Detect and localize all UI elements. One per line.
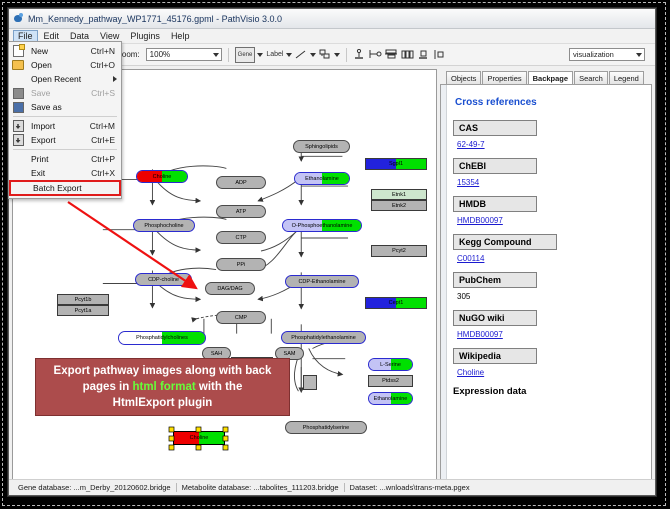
xref-db-cas: CAS <box>453 120 537 136</box>
xref-value-kegg[interactable]: C00114 <box>457 254 641 263</box>
interaction-icon[interactable] <box>369 48 382 62</box>
submenu-arrow-icon <box>113 76 117 82</box>
node-label: Pcyt2 <box>392 248 406 254</box>
annotation-line2-pre: pages in <box>83 381 133 393</box>
menu-item-open-recent[interactable]: Open Recent <box>9 72 121 86</box>
node-ptdss2[interactable]: Ptdss2 <box>368 375 413 387</box>
xref-db-pubchem: PubChem <box>453 272 537 288</box>
menu-item-label: Save as <box>25 102 115 112</box>
menu-plugins[interactable]: Plugins <box>125 30 165 43</box>
tab-objects[interactable]: Objects <box>446 71 481 84</box>
xref-value-hmdb[interactable]: HMDB00097 <box>457 216 641 225</box>
node-label: Phosphatidylserine <box>303 425 349 431</box>
new-document-icon <box>11 45 25 57</box>
shape-tool-icon[interactable] <box>319 48 332 62</box>
annotation-line3: HtmlExport plugin <box>113 397 213 409</box>
status-bar: Gene database: ...m_Derby_20120602.bridg… <box>9 479 655 495</box>
anchor-icon[interactable] <box>353 48 366 62</box>
cross-references-heading: Cross references <box>455 97 641 108</box>
stack-icon[interactable] <box>417 48 430 62</box>
node-l-serine[interactable]: L-Serine <box>368 358 413 371</box>
node-label: CDP-Ethanolamine <box>298 279 345 285</box>
spacer-icon <box>11 153 25 165</box>
menu-item-accel: Ctrl+S <box>91 88 121 98</box>
menu-item-label: Import <box>25 121 90 131</box>
file-menu-dropdown[interactable]: New Ctrl+N Open Ctrl+O Open Recent Save … <box>8 41 122 199</box>
menu-item-accel: Ctrl+N <box>91 46 121 56</box>
menu-help[interactable]: Help <box>166 30 195 43</box>
order-icon[interactable] <box>433 48 446 62</box>
menu-item-accel: Ctrl+P <box>91 154 121 164</box>
node-label: Choline <box>190 435 209 441</box>
xref-db-kegg: Kegg Compound <box>453 234 557 250</box>
node-label: Phosphatidylethanolamine <box>291 335 356 341</box>
node-label: Sphingolipids <box>305 144 338 150</box>
menu-item-print[interactable]: Print Ctrl+P <box>9 152 121 166</box>
node-label: L-Serine <box>380 362 401 368</box>
menu-item-label: Save <box>25 88 91 98</box>
node-pcyt1b[interactable]: Pcyt1b <box>57 294 109 305</box>
menu-separator <box>13 116 117 117</box>
node-ethanolamine-bottom[interactable]: Ethanolamine <box>368 392 413 405</box>
gene-tool-button[interactable]: Gene <box>235 47 256 63</box>
annotation-banner: Export pathway images along with back pa… <box>35 358 290 416</box>
node-label: CTP <box>236 235 247 241</box>
export-icon <box>11 134 25 146</box>
chevron-down-icon[interactable] <box>257 53 263 57</box>
node-label: Choline <box>153 174 172 180</box>
title-bar: Mm_Kennedy_pathway_WP1771_45176.gpml - P… <box>9 9 655 29</box>
zoom-value: 100% <box>150 50 170 59</box>
node-phosphatidylserine[interactable]: Phosphatidylserine <box>285 421 367 434</box>
visualization-value: visualization <box>573 50 614 59</box>
menu-separator <box>13 149 117 150</box>
window-title: Mm_Kennedy_pathway_WP1771_45176.gpml - P… <box>28 14 282 24</box>
node-cept1[interactable]: Cept1 <box>365 297 427 309</box>
spacer-icon <box>11 73 25 85</box>
line-tool-icon[interactable] <box>295 48 308 62</box>
node-label: ATP <box>236 209 246 215</box>
node-label: DAG/DAG <box>217 286 242 292</box>
xref-db-nugo: NuGO wiki <box>453 310 537 326</box>
status-gene-database: Gene database: ...m_Derby_20120602.bridg… <box>13 483 176 492</box>
tab-backpage[interactable]: Backpage <box>528 71 573 85</box>
chevron-down-icon <box>636 53 642 57</box>
menu-item-open[interactable]: Open Ctrl+O <box>9 58 121 72</box>
node-label: Ethanolamine <box>305 176 339 182</box>
status-metabolite-database: Metabolite database: ...tabolites_111203… <box>176 483 344 492</box>
menu-item-label: Open <box>25 60 90 70</box>
menu-item-save-as[interactable]: Save as <box>9 100 121 114</box>
align-icon[interactable] <box>385 48 398 62</box>
xref-value-nugo[interactable]: HMDB00097 <box>457 330 641 339</box>
node-cmp[interactable]: CMP <box>216 311 266 324</box>
node-phosphocholine[interactable]: Phosphocholine <box>133 219 195 232</box>
distribute-icon[interactable] <box>401 48 414 62</box>
node-pcyt1a[interactable]: Pcyt1a <box>57 305 109 316</box>
node-sgpl1[interactable]: Sgpl1 <box>365 158 427 170</box>
status-dataset: Dataset: ...wnloads\trans-meta.pgex <box>344 483 475 492</box>
toolbar-separator <box>228 48 229 62</box>
menu-item-batch-export[interactable]: Batch Export <box>9 180 121 196</box>
spacer-icon <box>13 182 27 194</box>
node-label: Sgpl1 <box>389 161 403 167</box>
menu-item-label: Batch Export <box>27 183 119 193</box>
xref-value-cas[interactable]: 62-49-7 <box>457 140 641 149</box>
node-ctp[interactable]: CTP <box>216 231 266 244</box>
menu-item-label: Print <box>25 154 91 164</box>
node-cdp-choline[interactable]: CDP-choline <box>135 273 192 286</box>
open-folder-icon <box>11 59 25 71</box>
node-label: Phosphocholine <box>144 223 183 229</box>
menu-item-accel: Ctrl+X <box>91 168 121 178</box>
node-label: Pcyt1a <box>75 308 92 314</box>
tab-search[interactable]: Search <box>574 71 608 84</box>
xref-db-wikipedia: Wikipedia <box>453 348 537 364</box>
pathvisio-icon <box>13 13 24 24</box>
save-icon <box>11 87 25 99</box>
annotation-line2-post: with the <box>196 381 243 393</box>
xref-db-chebi: ChEBI <box>453 158 537 174</box>
node-label: Ethanolamine <box>374 396 408 402</box>
node-dag[interactable]: DAG/DAG <box>205 282 255 295</box>
node-ppi[interactable]: PPi <box>216 258 266 271</box>
backpage-content: Cross references CAS 62-49-7 ChEBI 15354… <box>440 84 652 496</box>
node-atp[interactable]: ATP <box>216 205 266 218</box>
menu-item-exit[interactable]: Exit Ctrl+X <box>9 166 121 180</box>
xref-db-hmdb: HMDB <box>453 196 537 212</box>
chevron-down-icon <box>213 53 219 57</box>
zoom-combobox[interactable]: 100% <box>146 48 222 61</box>
toolbar-separator <box>346 48 347 62</box>
node-label: Etnk2 <box>392 203 406 209</box>
panel-scrollbar[interactable] <box>441 85 447 496</box>
node-choline-top[interactable]: Choline <box>136 170 188 183</box>
xref-value-pubchem: 305 <box>457 292 641 301</box>
node-label: CMP <box>235 315 247 321</box>
node-grey-box[interactable] <box>303 375 317 390</box>
node-label: Etnk1 <box>392 192 406 198</box>
node-phosphatidylcholines[interactable]: Phosphatidylcholines <box>118 331 206 345</box>
node-ethanolamine-top[interactable]: Ethanolamine <box>294 172 350 185</box>
menu-item-label: Open Recent <box>25 74 121 84</box>
node-o-phosphoethanolamine[interactable]: O-Phosphoethanolamine <box>282 219 362 232</box>
annotation-line1: Export pathway images along with back <box>54 365 272 377</box>
node-label: Phosphatidylcholines <box>136 335 188 341</box>
chevron-down-icon[interactable] <box>310 53 316 57</box>
side-panel: Objects Properties Backpage Search Legen… <box>440 69 652 496</box>
menu-item-label: New <box>25 46 91 56</box>
node-label: SAH <box>211 351 222 357</box>
xref-value-chebi[interactable]: 15354 <box>457 178 641 187</box>
panel-tabstrip: Objects Properties Backpage Search Legen… <box>440 69 652 84</box>
tab-properties[interactable]: Properties <box>482 71 526 84</box>
node-label: ADP <box>235 180 246 186</box>
menu-item-import[interactable]: Import Ctrl+M <box>9 119 121 133</box>
menu-item-export[interactable]: Export Ctrl+E <box>9 133 121 147</box>
save-as-icon <box>11 101 25 113</box>
node-sphingolipids[interactable]: Sphingolipids <box>293 140 350 153</box>
chevron-down-icon[interactable] <box>286 53 292 57</box>
node-label: Cept1 <box>389 300 404 306</box>
xref-value-wikipedia[interactable]: Choline <box>457 368 641 377</box>
menu-item-accel: Ctrl+O <box>90 60 121 70</box>
node-label: O-Phosphoethanolamine <box>292 223 353 229</box>
node-label: Pcyt1b <box>75 297 92 303</box>
node-cdp-ethanolamine[interactable]: CDP-Ethanolamine <box>285 275 359 288</box>
node-label: CDP-choline <box>148 277 179 283</box>
menu-item-save: Save Ctrl+S <box>9 86 121 100</box>
visualization-combobox[interactable]: visualization <box>569 48 645 61</box>
menu-item-new[interactable]: New Ctrl+N <box>9 44 121 58</box>
node-etnk1[interactable]: Etnk1 <box>371 189 427 200</box>
node-etnk2[interactable]: Etnk2 <box>371 200 427 211</box>
node-label: Ptdss2 <box>382 378 399 384</box>
expression-data-heading: Expression data <box>453 386 641 397</box>
menu-item-label: Exit <box>25 168 91 178</box>
node-pcyt2[interactable]: Pcyt2 <box>371 245 427 257</box>
node-phosphatidylethanolamine[interactable]: Phosphatidylethanolamine <box>281 331 366 344</box>
menu-item-label: Export <box>25 135 91 145</box>
annotation-line2-highlight: html format <box>132 381 195 393</box>
screenshot-root: Mm_Kennedy_pathway_WP1771_45176.gpml - P… <box>0 0 670 509</box>
chevron-down-icon[interactable] <box>334 53 340 57</box>
node-label: PPi <box>237 262 246 268</box>
spacer-icon <box>11 167 25 179</box>
label-tool-button[interactable]: Label <box>266 48 283 62</box>
menu-item-accel: Ctrl+E <box>91 135 121 145</box>
menu-item-accel: Ctrl+M <box>90 121 121 131</box>
node-adp[interactable]: ADP <box>216 176 266 189</box>
import-icon <box>11 120 25 132</box>
node-label: SAM <box>284 351 296 357</box>
tab-legend[interactable]: Legend <box>609 71 644 84</box>
